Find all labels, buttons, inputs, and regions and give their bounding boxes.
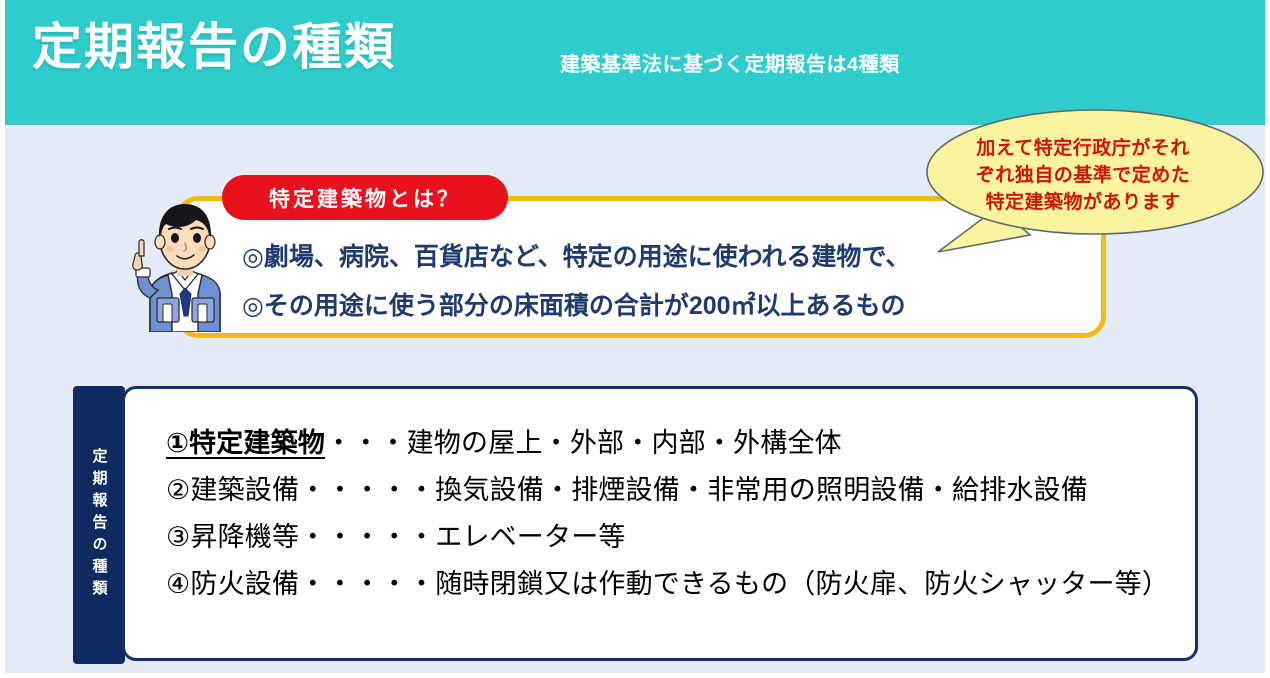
slide-canvas: 定期報告の種類 建築基準法に基づく定期報告は4種類 特定建築物とは？ ◎劇場、病… — [0, 0, 1270, 678]
definition-badge: 特定建築物とは？ — [222, 175, 508, 220]
speech-bubble-line-3: 特定建築物があります — [948, 190, 1218, 217]
header-subtitle: 建築基準法に基づく定期報告は4種類 — [560, 48, 900, 77]
types-list: ①特定建築物・・・建物の屋上・外部・内部・外構全体 ②建築設備・・・・・換気設備… — [166, 430, 1176, 618]
worker-character-illustration — [132, 198, 236, 332]
types-card-tab-label: 定期報告の種類 — [73, 386, 125, 664]
types-list-item-1-rest: ・・・建物の屋上・外部・内部・外構全体 — [325, 428, 842, 458]
definition-badge-label: 特定建築物とは？ — [269, 183, 461, 213]
types-list-item-4: ④防火設備・・・・・随時閉鎖又は作動できるもの（防火扉、防火シャッター等） — [166, 571, 1176, 598]
types-list-item-1: ①特定建築物・・・建物の屋上・外部・内部・外構全体 — [166, 430, 1176, 457]
definition-line-1: ◎劇場、病院、百貨店など、特定の用途に使われる建物で、 — [242, 237, 910, 273]
definition-line-2: ◎その用途に使う部分の床面積の合計が200㎡以上あるもの — [242, 286, 906, 322]
types-card-tab: 定期報告の種類 — [73, 386, 125, 664]
page-title: 定期報告の種類 — [32, 20, 396, 75]
speech-bubble-line-2: ぞれ独自の基準で定めた — [948, 163, 1218, 190]
speech-bubble-text: 加えて特定行政庁がそれ ぞれ独自の基準で定めた 特定建築物があります — [948, 136, 1218, 217]
types-list-item-3: ③昇降機等・・・・・エレベーター等 — [166, 524, 1176, 551]
types-list-item-2: ②建築設備・・・・・換気設備・排煙設備・非常用の照明設備・給排水設備 — [166, 477, 1176, 504]
speech-bubble-line-1: 加えて特定行政庁がそれ — [948, 136, 1218, 163]
types-list-item-1-emphasis: ①特定建築物 — [166, 428, 325, 458]
